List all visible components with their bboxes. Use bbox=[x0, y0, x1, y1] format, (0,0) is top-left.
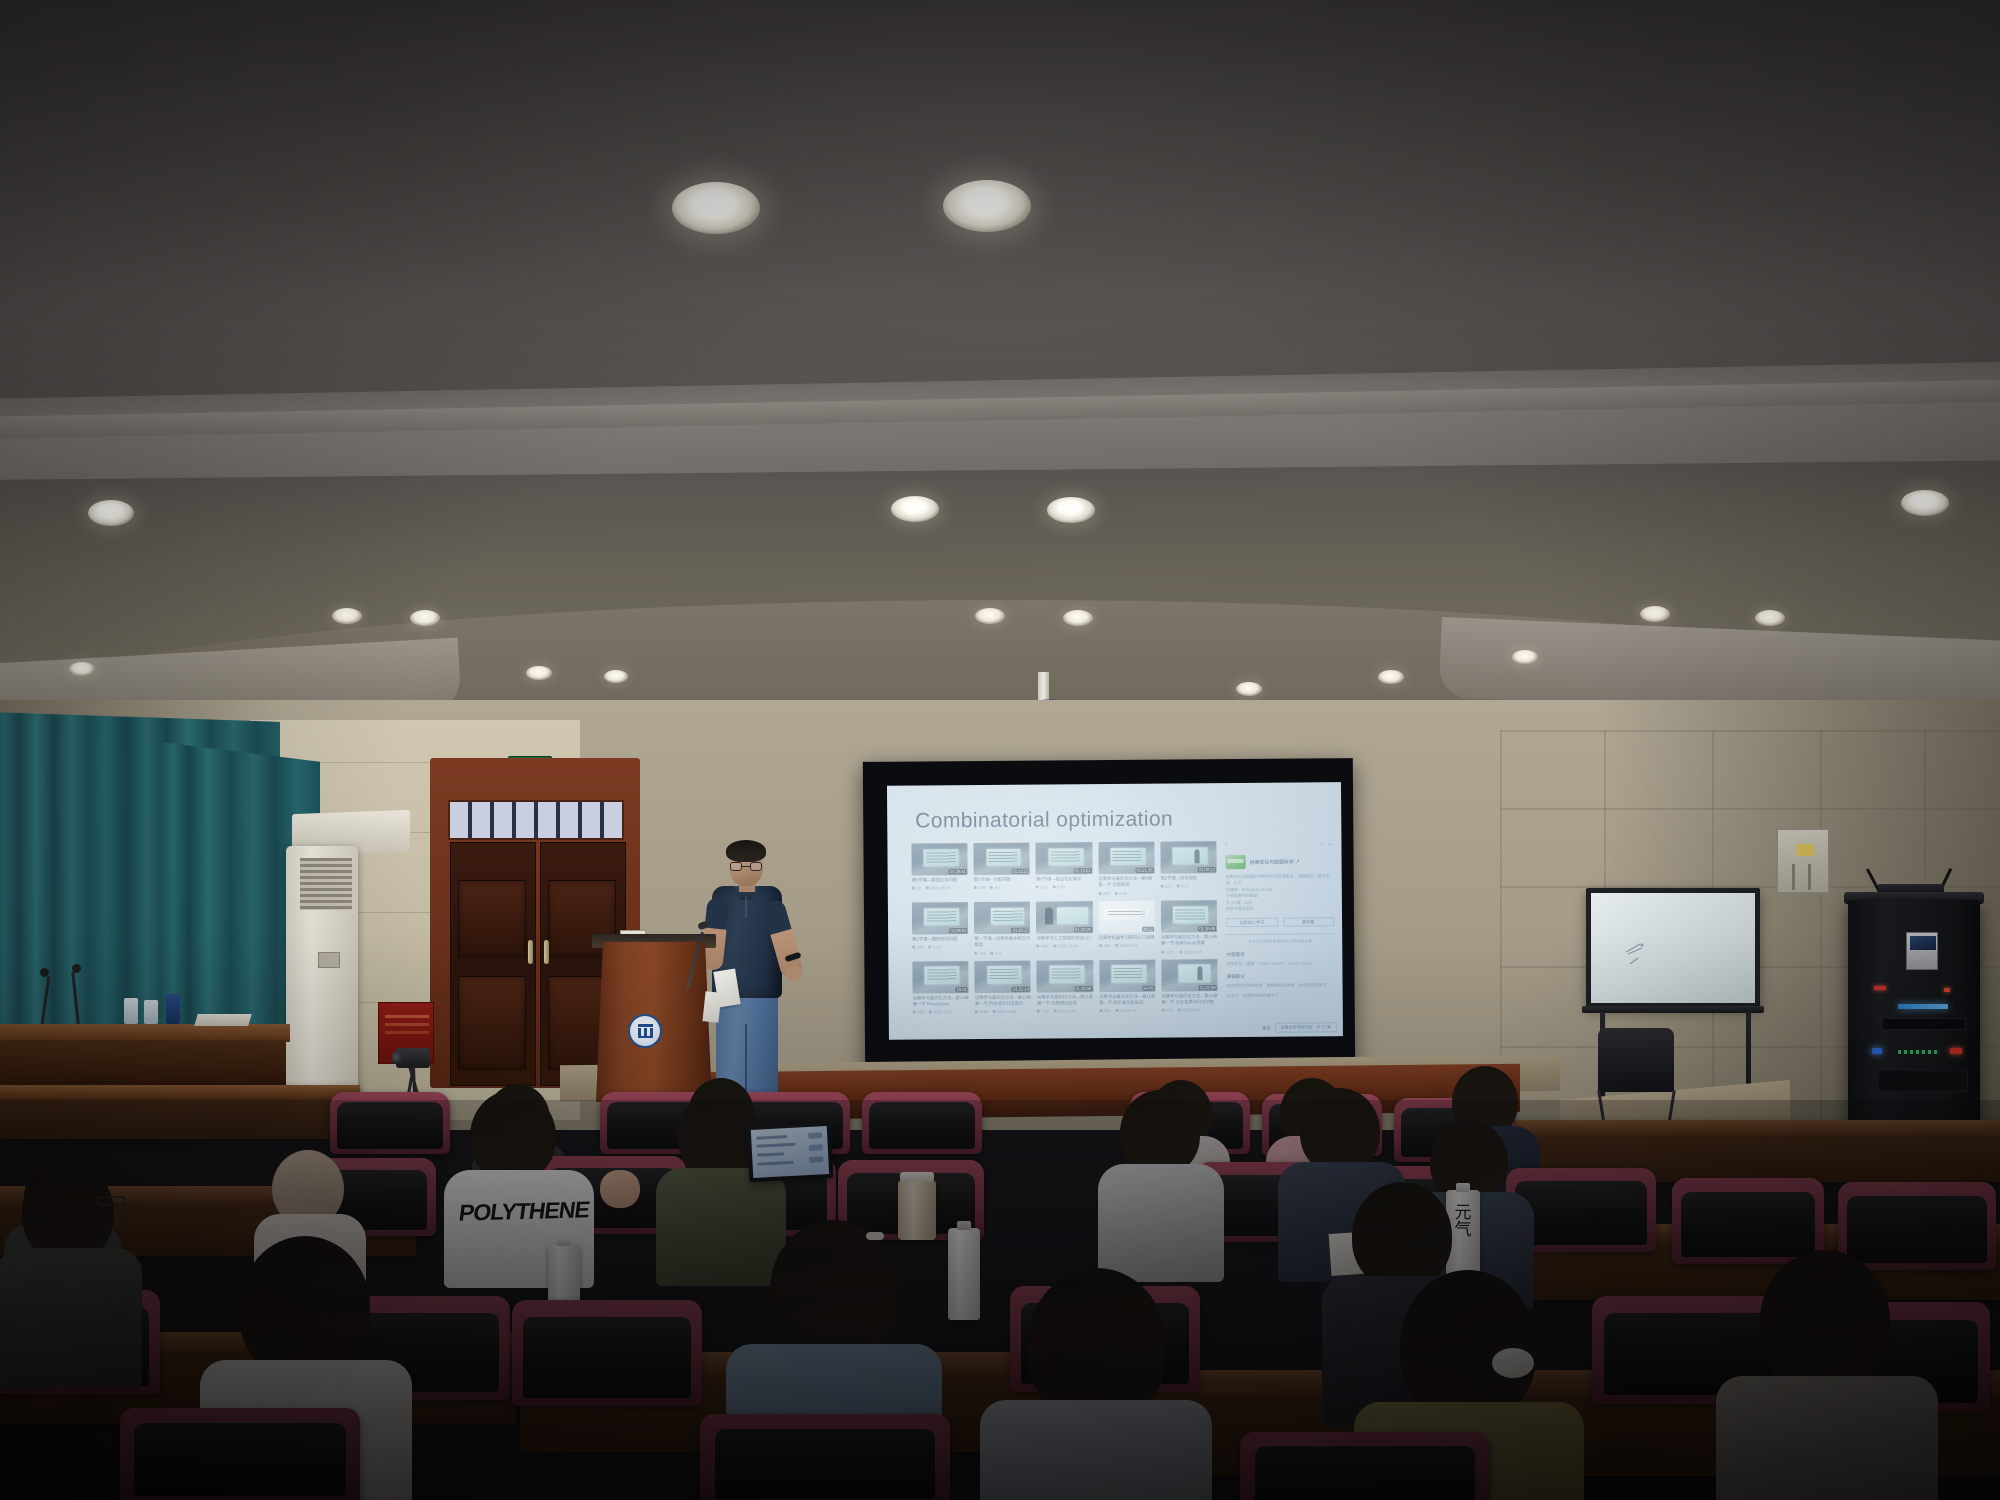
video-card[interactable]: 01:15:08 运筹学与最优化方法—第11章第一节 拉格朗日松弛 776 20… bbox=[1037, 960, 1094, 1014]
video-duration: 34:05 bbox=[1142, 985, 1154, 990]
section-heading: 课程部分 bbox=[1226, 974, 1334, 981]
water-glass bbox=[124, 998, 138, 1024]
ceiling-downlight bbox=[1755, 610, 1785, 626]
course-action-buttons: 立即加入学习 更多集 bbox=[1226, 918, 1334, 928]
play-count-icon bbox=[1037, 945, 1040, 948]
handout-papers bbox=[702, 991, 721, 1023]
date-icon bbox=[1116, 1009, 1119, 1012]
play-count-icon bbox=[912, 946, 915, 949]
spare-chair bbox=[1598, 1028, 1674, 1092]
video-duration: 01:12:11 bbox=[1011, 869, 1029, 874]
ceiling-downlight bbox=[1063, 610, 1093, 626]
video-card[interactable]: 01:13:21 第6节课—组合优化算法 214 5-30 bbox=[1036, 842, 1093, 896]
slide-title: Combinatorial optimization bbox=[915, 807, 1173, 833]
join-course-button[interactable]: 立即加入学习 bbox=[1226, 918, 1278, 927]
date-icon bbox=[990, 886, 993, 889]
video-duration: 01:05:02 bbox=[949, 928, 967, 933]
video-duration: 01:25:41 bbox=[949, 869, 967, 874]
video-thumbnail[interactable]: 01:18:05 bbox=[1161, 900, 1217, 932]
video-thumbnail[interactable]: 15:31 bbox=[912, 961, 968, 993]
detail-panel-toolbar: ‹ ⌕ ⋯ bbox=[1225, 840, 1333, 849]
video-title: 运筹学与最优化方法—第14章第一节 Primal-Dual bbox=[913, 995, 969, 1008]
play-count-icon bbox=[1099, 944, 1102, 947]
video-thumbnail[interactable]: 01:31:58 bbox=[1161, 959, 1217, 991]
auditorium-chair[interactable] bbox=[1838, 1182, 1996, 1270]
video-meta: 223 5-17 bbox=[1161, 884, 1217, 889]
ceiling-downlight bbox=[1378, 670, 1404, 684]
auditorium-chair[interactable] bbox=[1672, 1178, 1824, 1264]
status-led bbox=[1874, 986, 1886, 990]
door-transom-window bbox=[448, 800, 624, 840]
date-icon bbox=[1115, 944, 1118, 947]
course-section: 课程部分 线性规划与整数规划 整数规划与建模 动态规划与算法 启发式 数据挖掘与… bbox=[1226, 974, 1334, 1000]
video-title: 第7节课—分配问题 bbox=[974, 877, 1030, 884]
tag[interactable]: 线性规划与整数规划 bbox=[1227, 983, 1263, 989]
more-button[interactable]: 更多集 bbox=[1283, 918, 1335, 927]
video-meta: 481 2023-4-21 bbox=[1099, 943, 1155, 948]
video-duration: 01:20:15 bbox=[1012, 927, 1030, 932]
video-title: 运筹学与最优化方法—第15章第一节 使用Gurobi求解 bbox=[1161, 934, 1217, 947]
video-title: 运筹学与最优化方法—第12章第一节 列生成与分支定价 bbox=[975, 994, 1031, 1007]
course-header: 运筹优化与数据科学 ↗ bbox=[1226, 854, 1334, 869]
tag[interactable]: 建模 bbox=[1246, 961, 1254, 967]
section-heading: 内容服务 bbox=[1226, 952, 1334, 959]
video-duration: 15:31 bbox=[955, 987, 967, 992]
search-icon[interactable]: ⌕ bbox=[1320, 841, 1323, 848]
laptop-screen bbox=[751, 1126, 829, 1178]
video-title: 第一节课—运筹学基本概念与模型 bbox=[974, 935, 1030, 948]
ceiling-downlight bbox=[1236, 682, 1262, 696]
video-card[interactable]: 01:08:22 第2节课—线性规划 223 5-17 bbox=[1160, 841, 1217, 895]
status-led-strip bbox=[1898, 1004, 1948, 1009]
date-icon bbox=[1052, 886, 1055, 889]
video-card[interactable]: 38:12 运筹学机器学习研究入门讲座 481 2023-4-21 bbox=[1098, 900, 1155, 954]
status-led-row bbox=[1898, 1050, 1940, 1054]
auditorium-chair[interactable] bbox=[120, 1408, 360, 1500]
video-card[interactable]: 01:18:05 运筹学与最优化方法—第15章第一节 使用Gurobi求解 11… bbox=[1161, 900, 1218, 954]
video-thumbnail[interactable]: 34:05 bbox=[1099, 959, 1155, 991]
rack-slot bbox=[1878, 1070, 1968, 1092]
door-handle-left[interactable] bbox=[528, 940, 533, 964]
video-meta: 1100 2023-4-18 bbox=[1161, 949, 1217, 954]
auditorium-chair[interactable] bbox=[1240, 1432, 1490, 1500]
speaker-glasses bbox=[730, 862, 762, 871]
course-note: 本专栏已收录该课程的全部内容合集 bbox=[1226, 939, 1334, 946]
video-card[interactable]: 01:25:41 第5节课—路径优化问题 18 2023-08-02 bbox=[911, 843, 968, 897]
video-meta: 331 2023-3-8 bbox=[1099, 1008, 1155, 1013]
play-count-icon bbox=[974, 886, 977, 889]
date-icon bbox=[929, 1011, 932, 1014]
play-count-icon bbox=[974, 952, 977, 955]
course-title: 运筹优化与数据科学 ↗ bbox=[1250, 858, 1300, 865]
status-led bbox=[1944, 988, 1950, 992]
genki-forest-label: 元气 bbox=[1448, 1204, 1478, 1238]
microphone-head-icon bbox=[72, 964, 81, 973]
video-duration: 01:23:25 bbox=[1074, 927, 1092, 932]
video-thumbnail[interactable]: 01:23:25 bbox=[1036, 901, 1092, 933]
video-thumbnail[interactable]: 01:08:22 bbox=[1160, 841, 1216, 873]
water-bottle bbox=[948, 1228, 980, 1320]
video-thumbnail[interactable]: 01:21:05 bbox=[1098, 842, 1154, 874]
video-thumbnail-grid: 01:25:41 第5节课—路径优化问题 18 2023-08-02 01:12… bbox=[911, 841, 1217, 1015]
speaker-hair bbox=[726, 840, 766, 862]
bubble-tea-cup bbox=[898, 1180, 936, 1240]
video-thumbnail[interactable]: 38:12 bbox=[1098, 900, 1154, 932]
more-horizontal-icon[interactable]: ⋯ bbox=[1327, 841, 1333, 848]
video-card[interactable]: 01:31:58 运筹学与最优化方法—第10章第一节 分支定界和分支切割 974… bbox=[1161, 959, 1218, 1013]
ceiling-downlight bbox=[69, 662, 95, 676]
microphone-head-icon bbox=[40, 968, 49, 977]
audience-desk-face bbox=[0, 1099, 356, 1139]
video-meta: 214 5-30 bbox=[1036, 885, 1092, 890]
chevron-left-icon[interactable]: ‹ bbox=[1225, 842, 1227, 848]
video-meta: 786 2023-4-12 bbox=[913, 1009, 969, 1014]
rack-slot bbox=[1882, 1018, 1966, 1030]
video-title: 运筹学与最优化方法—第11章第一节 拉格朗日松弛 bbox=[1037, 994, 1093, 1007]
video-title: 第2节课—线性规划 bbox=[1160, 875, 1216, 882]
ceiling-downlight bbox=[1640, 606, 1670, 622]
play-count-icon bbox=[1162, 1009, 1165, 1012]
rack-display-panel bbox=[1906, 932, 1938, 970]
date-icon bbox=[1053, 945, 1056, 948]
play-count-icon bbox=[913, 1011, 916, 1014]
video-meta: 300 5-10 bbox=[912, 944, 968, 949]
ceiling-downlight bbox=[672, 182, 760, 234]
video-duration: 38:12 bbox=[1142, 926, 1154, 931]
section-tags: 运筹优化 建模 Python Gurobi Linear Codes bbox=[1226, 961, 1334, 968]
ceiling-downlight bbox=[526, 666, 552, 680]
video-duration: 01:18:05 bbox=[1198, 926, 1216, 931]
air-conditioner-vent bbox=[300, 858, 352, 910]
video-card[interactable]: 01:23:25 运筹学与人工智能的结合(上) 396 2023-10-04 bbox=[1036, 901, 1093, 955]
tag[interactable]: Linear Codes bbox=[1288, 961, 1312, 967]
tag[interactable]: 运筹优化 bbox=[1226, 961, 1242, 967]
water-glass bbox=[144, 1000, 158, 1024]
video-thumbnail[interactable]: 01:05:02 bbox=[912, 902, 968, 934]
video-thumbnail[interactable]: 01:25:41 bbox=[911, 843, 967, 875]
ceiling-downlight bbox=[1047, 497, 1095, 523]
ceiling-downlight bbox=[891, 496, 939, 522]
play-count-icon bbox=[975, 1010, 978, 1013]
video-meta: 776 2023-4-05 bbox=[1037, 1008, 1093, 1013]
view-all-button[interactable]: 查看全部课程内容 · 共 75 篇 bbox=[1275, 1022, 1337, 1032]
desk-document bbox=[194, 1014, 251, 1026]
date-icon bbox=[1115, 892, 1118, 895]
video-card[interactable]: 15:31 运筹学与最优化方法—第14章第一节 Primal-Dual 786 … bbox=[912, 961, 969, 1015]
air-conditioner-control-panel[interactable] bbox=[318, 952, 340, 968]
auditorium-chair[interactable] bbox=[862, 1092, 982, 1154]
date-icon bbox=[993, 1010, 996, 1013]
video-card[interactable]: 01:05:02 第2节课—整数规划问题 300 5-10 bbox=[912, 902, 969, 956]
video-thumbnail[interactable]: 01:51:14 bbox=[975, 960, 1031, 992]
play-count-icon bbox=[1099, 1009, 1102, 1012]
video-card[interactable]: 01:21:05 运筹学与最优化方法—第6章第一节 动态规划 233 5-26 bbox=[1098, 842, 1155, 896]
auditorium-chair[interactable] bbox=[512, 1300, 702, 1406]
ceiling-downlight bbox=[410, 610, 440, 626]
ceiling-downlight bbox=[1512, 650, 1538, 664]
video-meta: 18 2023-08-02 bbox=[912, 885, 968, 890]
video-meta: 1166 2023-4-08 bbox=[975, 1009, 1031, 1014]
video-meta: 766 5-3 bbox=[974, 950, 1030, 955]
video-card[interactable]: 34:05 运筹学与最优化方法—第11章第一节 割平面与割生成 331 2023… bbox=[1099, 959, 1156, 1013]
video-duration: 01:21:05 bbox=[1135, 868, 1153, 873]
projection-screen: Combinatorial optimization 01:25:41 第5节课… bbox=[863, 758, 1355, 1074]
video-title: 第5节课—路径优化问题 bbox=[912, 877, 968, 884]
front-side-table-face bbox=[0, 1040, 286, 1086]
hair-scrunchie bbox=[1492, 1348, 1534, 1378]
video-duration: 01:08:22 bbox=[1198, 867, 1216, 872]
video-card[interactable]: 01:20:15 第一节课—运筹学基本概念与模型 766 5-3 bbox=[974, 901, 1031, 955]
video-duration: 01:51:14 bbox=[1012, 986, 1030, 991]
status-led bbox=[1872, 1048, 1882, 1054]
video-card[interactable]: 01:12:11 第7节课—分配问题 190 6-1 bbox=[974, 843, 1031, 897]
video-thumbnail[interactable]: 01:12:11 bbox=[974, 843, 1030, 875]
section-tags: 线性规划与整数规划 整数规划与建模 动态规划与算法 启发式 数据挖掘与机器学习 bbox=[1227, 983, 1335, 1000]
projected-slide: Combinatorial optimization 01:25:41 第5节课… bbox=[887, 782, 1343, 1040]
video-card[interactable]: 01:51:14 运筹学与最优化方法—第12章第一节 列生成与分支定价 1166… bbox=[975, 960, 1032, 1014]
whiteboard-marker-scribble bbox=[1622, 938, 1656, 974]
auditorium-chair[interactable] bbox=[700, 1414, 950, 1500]
whiteboard-pen-tray bbox=[1582, 1006, 1764, 1013]
video-duration: 01:15:08 bbox=[1074, 986, 1092, 991]
date-icon bbox=[928, 946, 931, 949]
hair-clip-icon bbox=[866, 1232, 884, 1240]
tag[interactable]: 数据挖掘与机器学习 bbox=[1243, 993, 1279, 999]
video-meta: 190 6-1 bbox=[974, 885, 1030, 890]
door-handle-right[interactable] bbox=[544, 940, 549, 964]
auditorium-chair[interactable] bbox=[330, 1092, 450, 1154]
play-count-icon bbox=[1037, 1010, 1040, 1013]
whiteboard bbox=[1586, 888, 1760, 1008]
video-thumbnail[interactable]: 01:13:21 bbox=[1036, 842, 1092, 874]
divider bbox=[1226, 934, 1334, 936]
lecture-hall-photo: EPSON 安全出口 bbox=[0, 0, 2000, 1500]
course-description: 运筹优化与数据科学相关学习资源集合，课程笔记、算法实 现、论文 创建者：Shan… bbox=[1226, 873, 1334, 912]
speaker-shirt-placket bbox=[745, 896, 747, 918]
video-duration: 01:31:58 bbox=[1199, 985, 1217, 990]
university-crest-icon bbox=[628, 1014, 662, 1048]
tag[interactable]: 启发式 bbox=[1227, 993, 1239, 999]
ceiling-downlight bbox=[332, 608, 362, 624]
play-count-icon bbox=[912, 887, 915, 890]
ceiling-downlight bbox=[88, 500, 134, 526]
ceiling-downlight bbox=[943, 180, 1031, 232]
video-title: 运筹学机器学习研究入门讲座 bbox=[1099, 934, 1155, 941]
play-count-icon bbox=[1161, 885, 1164, 888]
video-thumbnail[interactable]: 01:15:08 bbox=[1037, 960, 1093, 992]
tag[interactable]: 动态规划与算法 bbox=[1299, 983, 1327, 989]
ceiling-downlight bbox=[975, 608, 1005, 624]
polythene-shirt-text: POLYTHENE bbox=[450, 1196, 598, 1227]
date-icon bbox=[1178, 1009, 1181, 1012]
audience-laptop[interactable] bbox=[747, 1122, 834, 1182]
tag[interactable]: Python Gurobi bbox=[1258, 961, 1284, 967]
date-icon bbox=[1179, 950, 1182, 953]
date-icon bbox=[926, 887, 929, 890]
door-panel-detail bbox=[458, 976, 526, 1070]
play-count-icon bbox=[1036, 886, 1039, 889]
course-cover-thumbnail bbox=[1226, 855, 1246, 869]
electrical-panel bbox=[1776, 828, 1830, 894]
video-title: 运筹学与最优化方法—第6章第一节 动态规划 bbox=[1098, 876, 1154, 889]
play-count-icon bbox=[1161, 950, 1164, 953]
date-icon bbox=[991, 951, 994, 954]
video-title: 运筹学与最优化方法—第10章第一节 分支定界和分支切割 bbox=[1161, 993, 1217, 1006]
tag[interactable]: 整数规划与建模 bbox=[1267, 983, 1295, 989]
video-title: 运筹学与最优化方法—第11章第一节 割平面与割生成 bbox=[1099, 993, 1155, 1006]
audience-member-arm bbox=[600, 1170, 640, 1208]
ceiling-downlight bbox=[604, 670, 628, 683]
video-title: 第6节课—组合优化算法 bbox=[1036, 876, 1092, 883]
door-panel-detail bbox=[458, 880, 526, 958]
video-thumbnail[interactable]: 01:20:15 bbox=[974, 901, 1030, 933]
audience-glasses-icon bbox=[96, 1196, 126, 1206]
video-meta: 396 2023-10-04 bbox=[1037, 943, 1093, 948]
slide-footer-label: 更多 bbox=[1262, 1026, 1271, 1032]
camera-lens-icon bbox=[392, 1052, 402, 1064]
ceiling-downlight bbox=[1901, 490, 1949, 516]
status-led bbox=[1950, 1048, 1962, 1054]
video-title: 运筹学与人工智能的结合(上) bbox=[1037, 935, 1093, 942]
video-duration: 01:13:21 bbox=[1073, 868, 1091, 873]
play-count-icon bbox=[1098, 892, 1101, 895]
date-icon bbox=[1053, 1010, 1056, 1013]
blue-bottle bbox=[166, 994, 180, 1024]
course-detail-panel: ‹ ⌕ ⋯ 运筹优化与数据科学 ↗ 运筹优化与数据科学相关学习资源集合，课程笔记… bbox=[1225, 840, 1334, 999]
date-icon bbox=[1177, 885, 1180, 888]
video-meta: 233 5-26 bbox=[1098, 890, 1154, 895]
course-section: 内容服务 运筹优化 建模 Python Gurobi Linear Codes bbox=[1226, 952, 1334, 968]
video-title: 第2节课—整数规划问题 bbox=[912, 936, 968, 943]
video-meta: 974 2023-3-04 bbox=[1162, 1007, 1218, 1012]
